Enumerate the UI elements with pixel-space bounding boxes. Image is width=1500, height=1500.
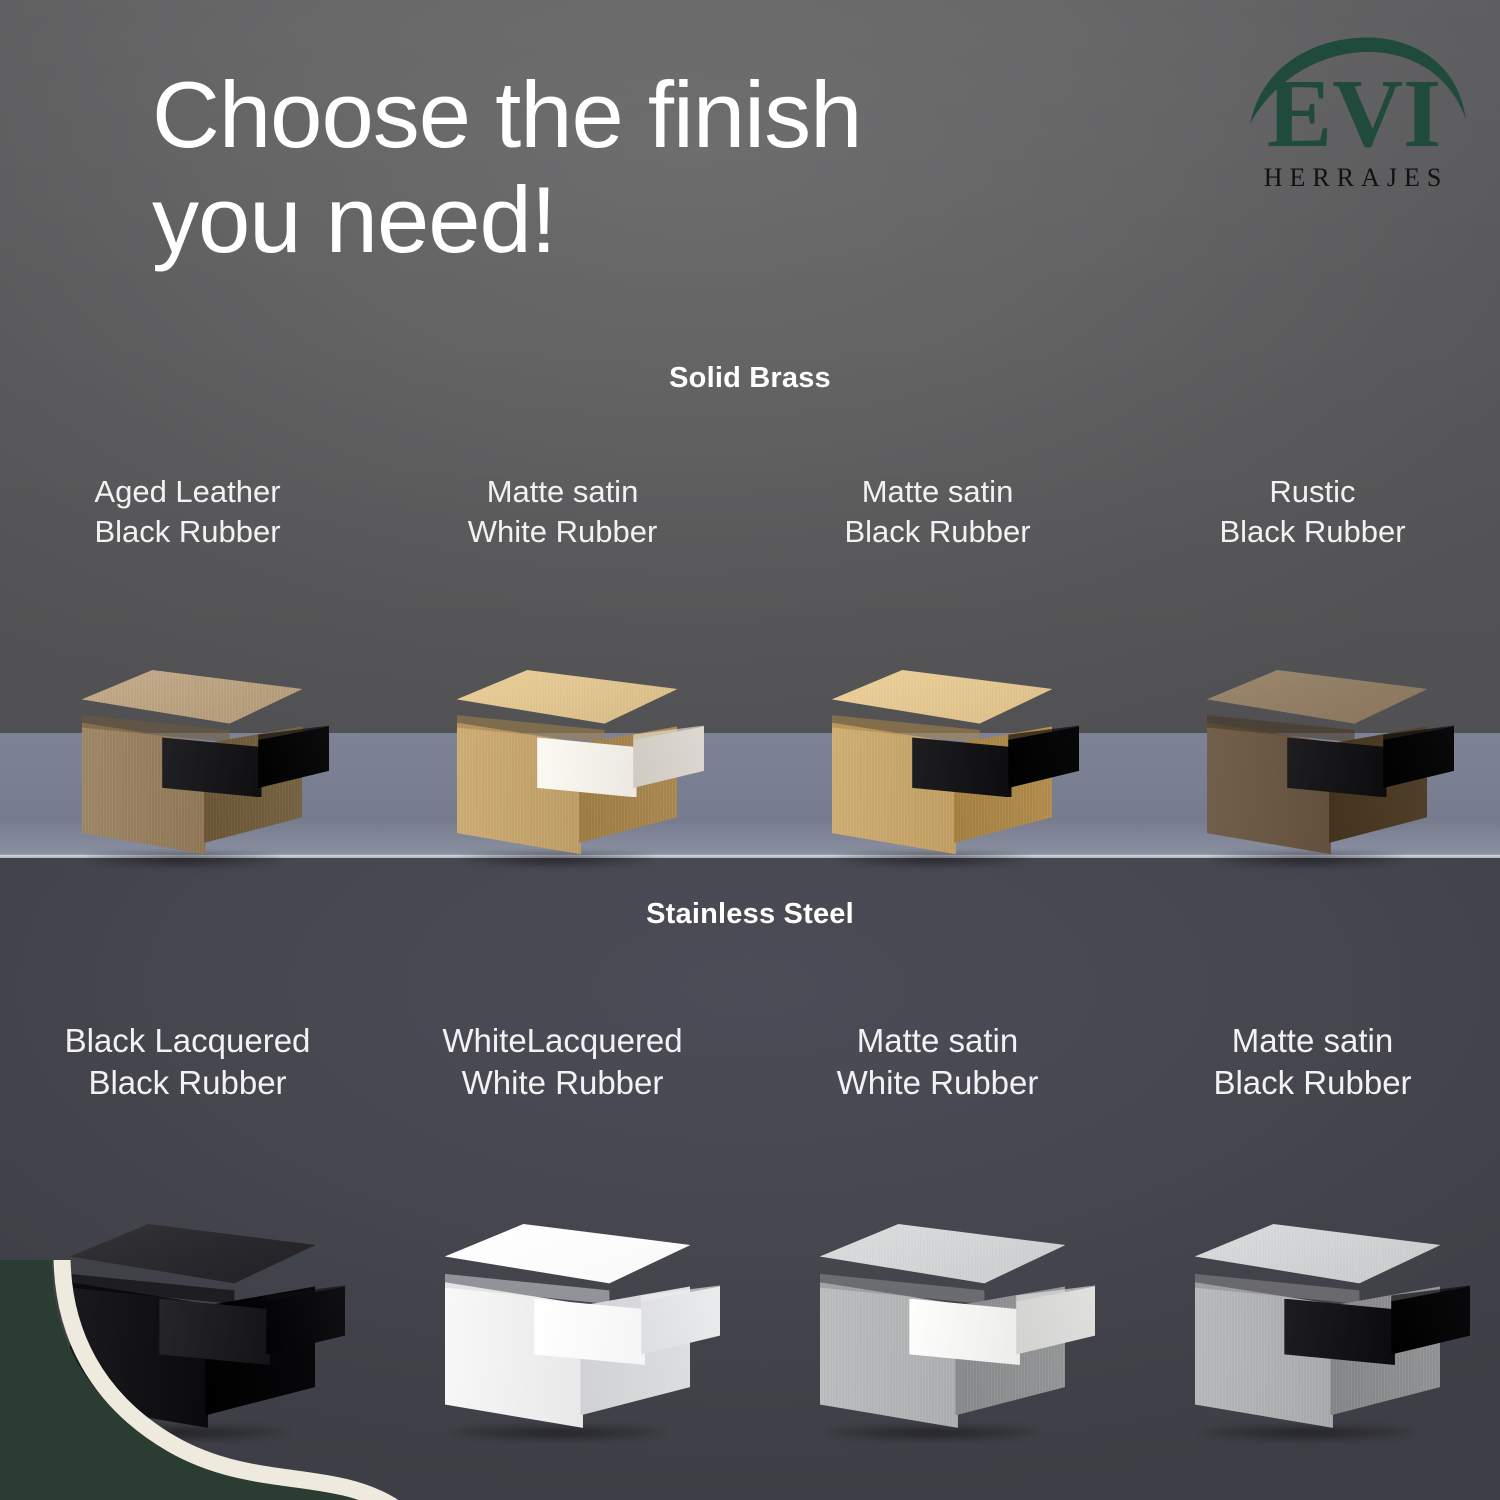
product-label-matte-satin-black: Matte satin Black Rubber [750,472,1125,551]
bumper-face [159,1299,270,1365]
product-label-matte-satin-white: Matte satin White Rubber [375,472,750,551]
product-label-rustic: Rustic Black Rubber [1125,472,1500,551]
bumper-face [912,737,1011,797]
product-label-steel-matte-white: Matte satin White Rubber [750,1020,1125,1104]
section-title-stainless-steel: Stainless Steel [0,898,1500,931]
cube-body [823,670,1053,858]
cube-body [448,670,678,858]
door-stop-steel-matte-white-rubber [810,1184,1066,1440]
door-stop-black-lacquered [60,1184,316,1440]
steel-label-row: Black Lacquered Black Rubber WhiteLacque… [0,1020,1500,1104]
cube-body [1198,670,1428,858]
product-label-black-lacquered: Black Lacquered Black Rubber [0,1020,375,1104]
door-stop-matte-satin-black-rubber [823,636,1053,866]
product-label-white-lacquered: WhiteLacquered White Rubber [375,1020,750,1104]
product-cell [0,1140,375,1440]
steel-product-row [0,1140,1500,1440]
bumper-face [534,1299,645,1365]
cube-body [435,1224,691,1432]
rubber-bumper [912,726,1078,805]
product-cell [750,596,1125,866]
rubber-bumper [1284,1286,1468,1373]
product-cell [375,1140,750,1440]
door-stop-matte-satin-white-rubber [448,636,678,866]
rubber-bumper [162,726,328,805]
rubber-bumper [1287,726,1453,805]
product-label-steel-matte-black: Matte satin Black Rubber [1125,1020,1500,1104]
door-stop-aged-leather [73,636,303,866]
bumper-face [1284,1299,1395,1365]
page-title: Choose the finish you need! [152,62,1112,273]
logo-tagline: HERRAJES [1264,163,1449,192]
poster-canvas: Choose the finish you need! EVI HERRAJES… [0,0,1500,1500]
product-label-aged-leather: Aged Leather Black Rubber [0,472,375,551]
brass-label-row: Aged Leather Black Rubber Matte satin Wh… [0,472,1500,551]
door-stop-rustic [1198,636,1428,866]
product-cell [750,1140,1125,1440]
door-stop-white-lacquered [435,1184,691,1440]
cube-body [60,1224,316,1432]
brand-logo: EVI HERRAJES [1238,28,1470,200]
section-title-solid-brass: Solid Brass [0,362,1500,395]
door-stop-steel-matte-black-rubber [1185,1184,1441,1440]
product-cell [375,596,750,866]
brass-product-row [0,596,1500,866]
cube-body [73,670,303,858]
bumper-face [537,737,636,797]
bumper-face [1287,737,1386,797]
cube-body [810,1224,1066,1432]
product-cell [1125,596,1500,866]
bumper-face [162,737,261,797]
cube-body [1185,1224,1441,1432]
bumper-face [909,1299,1020,1365]
logo-wordmark: EVI [1267,60,1441,168]
rubber-bumper [537,726,703,805]
product-cell [0,596,375,866]
product-cell [1125,1140,1500,1440]
rubber-bumper [159,1286,343,1373]
rubber-bumper [909,1286,1093,1373]
rubber-bumper [534,1286,718,1373]
